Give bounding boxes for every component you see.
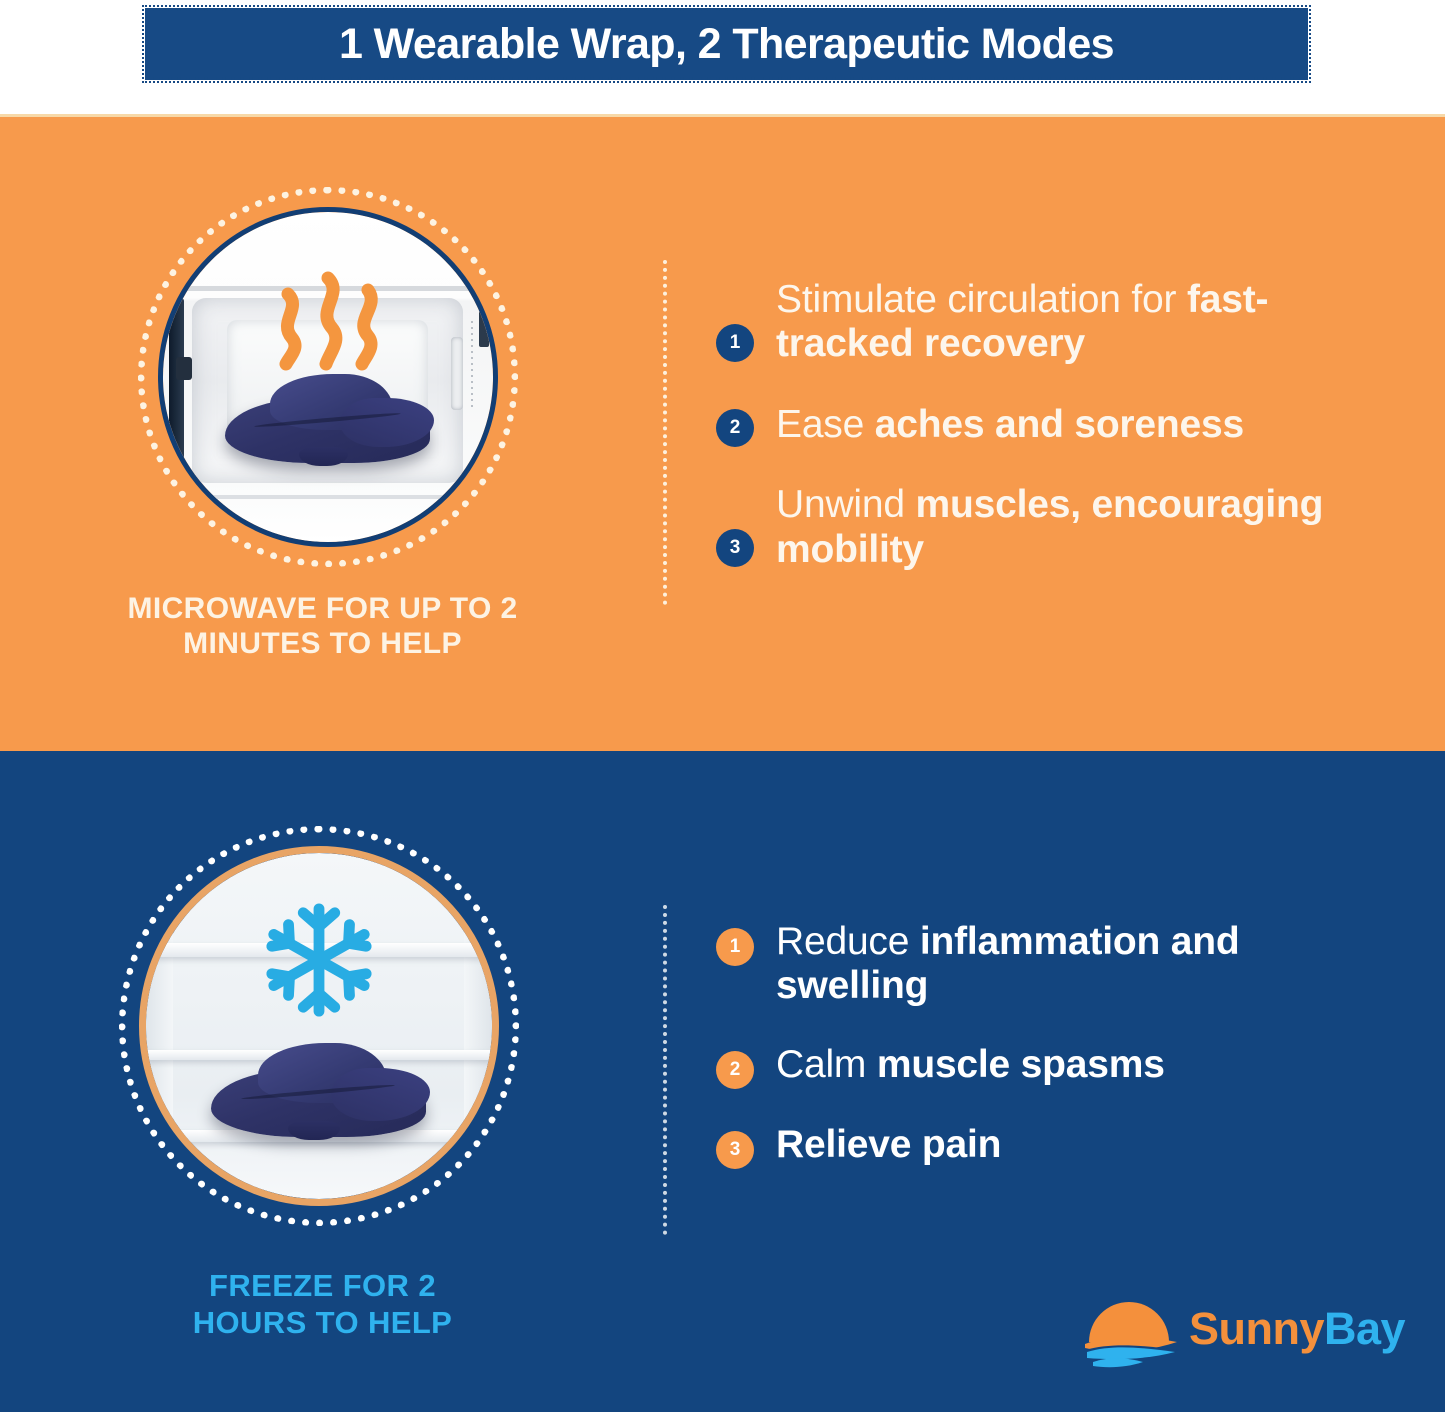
bullet-badge-1: 1: [716, 324, 754, 362]
title-zone: 1 Wearable Wrap, 2 Therapeutic Modes: [0, 0, 1445, 114]
bullet-bold-3: Relieve pain: [776, 1123, 1001, 1166]
logo-sunny-text: Sunny: [1189, 1303, 1324, 1354]
list-item: 1 Stimulate circulation for fast-tracked…: [716, 278, 1356, 367]
microwave-vent-dots: [471, 321, 473, 407]
cold-media-column: FREEZE FOR 2 HOURS TO HELP: [0, 751, 645, 1412]
snowflake-icon: [260, 901, 378, 1019]
page-title: 1 Wearable Wrap, 2 Therapeutic Modes: [339, 23, 1114, 66]
sunnybay-logo: SunnyBay: [1085, 1283, 1375, 1375]
heat-media-column: MICROWAVE FOR UP TO 2 MINUTES TO HELP: [0, 117, 645, 751]
cold-benefits-list: 1 Reduce inflammation and swelling 2 Cal…: [716, 920, 1366, 1203]
heat-waves-icon: [272, 268, 384, 376]
therapy-wrap-pack: [225, 377, 430, 463]
therapy-wrap-pack: [211, 1047, 426, 1137]
list-item: 3 Relieve pain: [716, 1123, 1366, 1169]
bullet-light-3: Unwind: [776, 483, 916, 526]
freezer-wall-right: [464, 853, 492, 1199]
heat-benefits-list: 1 Stimulate circulation for fast-tracked…: [716, 278, 1356, 608]
list-item: 2 Ease aches and soreness: [716, 403, 1356, 447]
bullet-badge-3: 3: [716, 1131, 754, 1169]
microwave-control-panel: [479, 311, 489, 347]
circle-border-ring: [158, 207, 498, 547]
bullet-badge-3: 3: [716, 529, 754, 567]
microwave-door-edge: [169, 298, 184, 483]
bullet-text-3: Unwind muscles, encouraging mobility: [776, 483, 1356, 572]
bullet-text-1: Reduce inflammation and swelling: [776, 920, 1366, 1009]
microwave-photo-circle: [158, 207, 498, 547]
bullet-text-1: Stimulate circulation for fast-tracked r…: [776, 278, 1356, 367]
list-item: 3 Unwind muscles, encouraging mobility: [716, 483, 1356, 572]
list-item: 1 Reduce inflammation and swelling: [716, 920, 1366, 1009]
freezer-wall-left: [146, 853, 174, 1199]
title-banner: 1 Wearable Wrap, 2 Therapeutic Modes: [145, 8, 1308, 80]
bullet-bold-2: aches and soreness: [875, 403, 1244, 446]
microwave-floor-edge: [182, 495, 472, 499]
bullet-badge-2: 2: [716, 1051, 754, 1089]
bullet-text-3: Relieve pain: [776, 1123, 1001, 1167]
list-item: 2 Calm muscle spasms: [716, 1043, 1366, 1089]
bullet-badge-1: 1: [716, 928, 754, 966]
bullet-light-1: Reduce: [776, 920, 920, 963]
freezer-photo: [146, 853, 492, 1199]
logo-wordmark: SunnyBay: [1189, 1303, 1405, 1355]
microwave-photo: [163, 212, 493, 542]
logo-bay-text: Bay: [1324, 1303, 1405, 1354]
cold-divider: [663, 905, 667, 1235]
bullet-light-1: Stimulate circulation for: [776, 278, 1187, 321]
bullet-light-2: Calm: [776, 1043, 877, 1086]
wrap-tab: [288, 1121, 339, 1141]
bullet-bold-2: muscle spasms: [877, 1043, 1165, 1086]
circle-border-ring: [139, 846, 499, 1206]
sun-and-waves-icon: [1085, 1286, 1197, 1372]
bullet-light-2: Ease: [776, 403, 875, 446]
heat-divider: [663, 260, 667, 605]
bullet-badge-2: 2: [716, 409, 754, 447]
microwave-vent: [451, 337, 463, 410]
bullet-text-2: Ease aches and soreness: [776, 403, 1244, 447]
microwave-hinge: [176, 357, 193, 380]
heat-caption: MICROWAVE FOR UP TO 2 MINUTES TO HELP: [113, 591, 533, 662]
cold-caption: FREEZE FOR 2 HOURS TO HELP: [153, 1268, 493, 1341]
bullet-text-2: Calm muscle spasms: [776, 1043, 1165, 1087]
freezer-photo-circle: [139, 846, 499, 1206]
